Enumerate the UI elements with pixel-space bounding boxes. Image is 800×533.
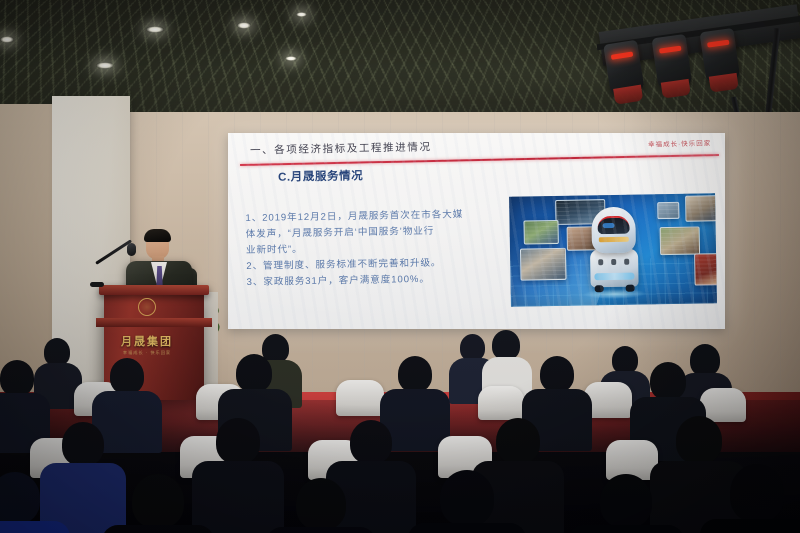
spotlight-led	[707, 40, 729, 48]
conference-hall-photo: 一、各项经济指标及工程推进情况 幸福成长·快乐回家 C.月晟服务情况 1、201…	[0, 0, 800, 533]
downlight-icon	[96, 62, 114, 69]
spotlight-led	[611, 51, 634, 59]
screen-sheen	[228, 133, 725, 329]
audience-area	[0, 400, 800, 533]
downlight-icon	[296, 12, 307, 17]
podium-plinth	[96, 318, 212, 327]
downlight-icon	[285, 56, 297, 61]
spotlight-led	[659, 46, 681, 54]
spotlight-icon	[652, 34, 693, 90]
projection-screen: 一、各项经济指标及工程推进情况 幸福成长·快乐回家 C.月晟服务情况 1、201…	[228, 133, 725, 329]
audience-chair	[336, 380, 384, 416]
podium-logo-text: 月晟集团	[116, 333, 178, 349]
microphone-icon	[127, 243, 136, 256]
audience-chair	[478, 386, 524, 420]
podium-logo-subtext: 幸福成长 · 快乐回家	[112, 350, 182, 356]
company-seal-icon	[138, 298, 156, 316]
microphone-base	[90, 282, 104, 287]
downlight-icon	[237, 22, 251, 29]
speaker-hair	[144, 229, 171, 242]
spotlight-icon	[700, 28, 741, 84]
downlight-icon	[0, 36, 14, 43]
downlight-icon	[146, 26, 164, 33]
podium-top-surface	[99, 285, 209, 295]
